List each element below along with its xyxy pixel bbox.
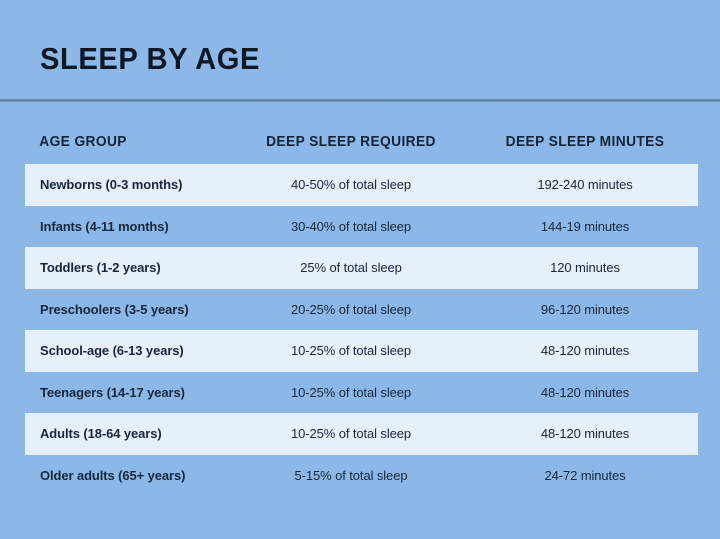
sleep-by-age-infographic: SLEEP BY AGE AGE GROUP DEEP SLEEP REQUIR… bbox=[0, 0, 720, 539]
cell-age-group: Adults (18-64 years) bbox=[25, 426, 230, 441]
table-row: Newborns (0-3 months) 40-50% of total sl… bbox=[25, 164, 698, 206]
cell-deep-sleep-required: 20-25% of total sleep bbox=[230, 302, 472, 317]
cell-age-group: Preschoolers (3-5 years) bbox=[25, 302, 230, 317]
cell-deep-sleep-required: 10-25% of total sleep bbox=[230, 385, 472, 400]
cell-age-group: Infants (4-11 months) bbox=[25, 219, 230, 234]
column-header-deep-sleep-minutes: DEEP SLEEP MINUTES bbox=[478, 134, 693, 150]
table-row: Teenagers (14-17 years) 10-25% of total … bbox=[25, 372, 698, 414]
sleep-table: AGE GROUP DEEP SLEEP REQUIRED DEEP SLEEP… bbox=[25, 120, 698, 496]
cell-age-group: Toddlers (1-2 years) bbox=[25, 260, 230, 275]
cell-deep-sleep-minutes: 120 minutes bbox=[472, 260, 698, 275]
cell-age-group: Teenagers (14-17 years) bbox=[25, 385, 230, 400]
cell-deep-sleep-required: 25% of total sleep bbox=[230, 260, 472, 275]
cell-age-group: School-age (6-13 years) bbox=[25, 343, 230, 358]
cell-age-group: Newborns (0-3 months) bbox=[25, 177, 230, 192]
table-body: Newborns (0-3 months) 40-50% of total sl… bbox=[25, 164, 698, 496]
cell-deep-sleep-minutes: 96-120 minutes bbox=[472, 302, 698, 317]
cell-deep-sleep-minutes: 144-19 minutes bbox=[472, 219, 698, 234]
page-title: SLEEP BY AGE bbox=[40, 41, 260, 77]
column-header-deep-sleep-required: DEEP SLEEP REQUIRED bbox=[236, 134, 466, 150]
cell-deep-sleep-required: 40-50% of total sleep bbox=[230, 177, 472, 192]
table-row: Adults (18-64 years) 10-25% of total sle… bbox=[25, 413, 698, 455]
table-header-row: AGE GROUP DEEP SLEEP REQUIRED DEEP SLEEP… bbox=[25, 120, 698, 164]
cell-deep-sleep-minutes: 48-120 minutes bbox=[472, 385, 698, 400]
cell-deep-sleep-minutes: 24-72 minutes bbox=[472, 468, 698, 483]
cell-deep-sleep-minutes: 48-120 minutes bbox=[472, 343, 698, 358]
table-row: Toddlers (1-2 years) 25% of total sleep … bbox=[25, 247, 698, 289]
cell-deep-sleep-required: 10-25% of total sleep bbox=[230, 426, 472, 441]
table-row: School-age (6-13 years) 10-25% of total … bbox=[25, 330, 698, 372]
cell-deep-sleep-required: 5-15% of total sleep bbox=[230, 468, 472, 483]
table-row: Infants (4-11 months) 30-40% of total sl… bbox=[25, 206, 698, 248]
title-divider bbox=[0, 99, 720, 102]
table-row: Older adults (65+ years) 5-15% of total … bbox=[25, 455, 698, 497]
cell-deep-sleep-required: 30-40% of total sleep bbox=[230, 219, 472, 234]
cell-deep-sleep-required: 10-25% of total sleep bbox=[230, 343, 472, 358]
table-row: Preschoolers (3-5 years) 20-25% of total… bbox=[25, 289, 698, 331]
column-header-age-group: AGE GROUP bbox=[25, 134, 220, 150]
title-area: SLEEP BY AGE bbox=[0, 0, 720, 100]
cell-deep-sleep-minutes: 48-120 minutes bbox=[472, 426, 698, 441]
cell-age-group: Older adults (65+ years) bbox=[25, 468, 230, 483]
cell-deep-sleep-minutes: 192-240 minutes bbox=[472, 177, 698, 192]
